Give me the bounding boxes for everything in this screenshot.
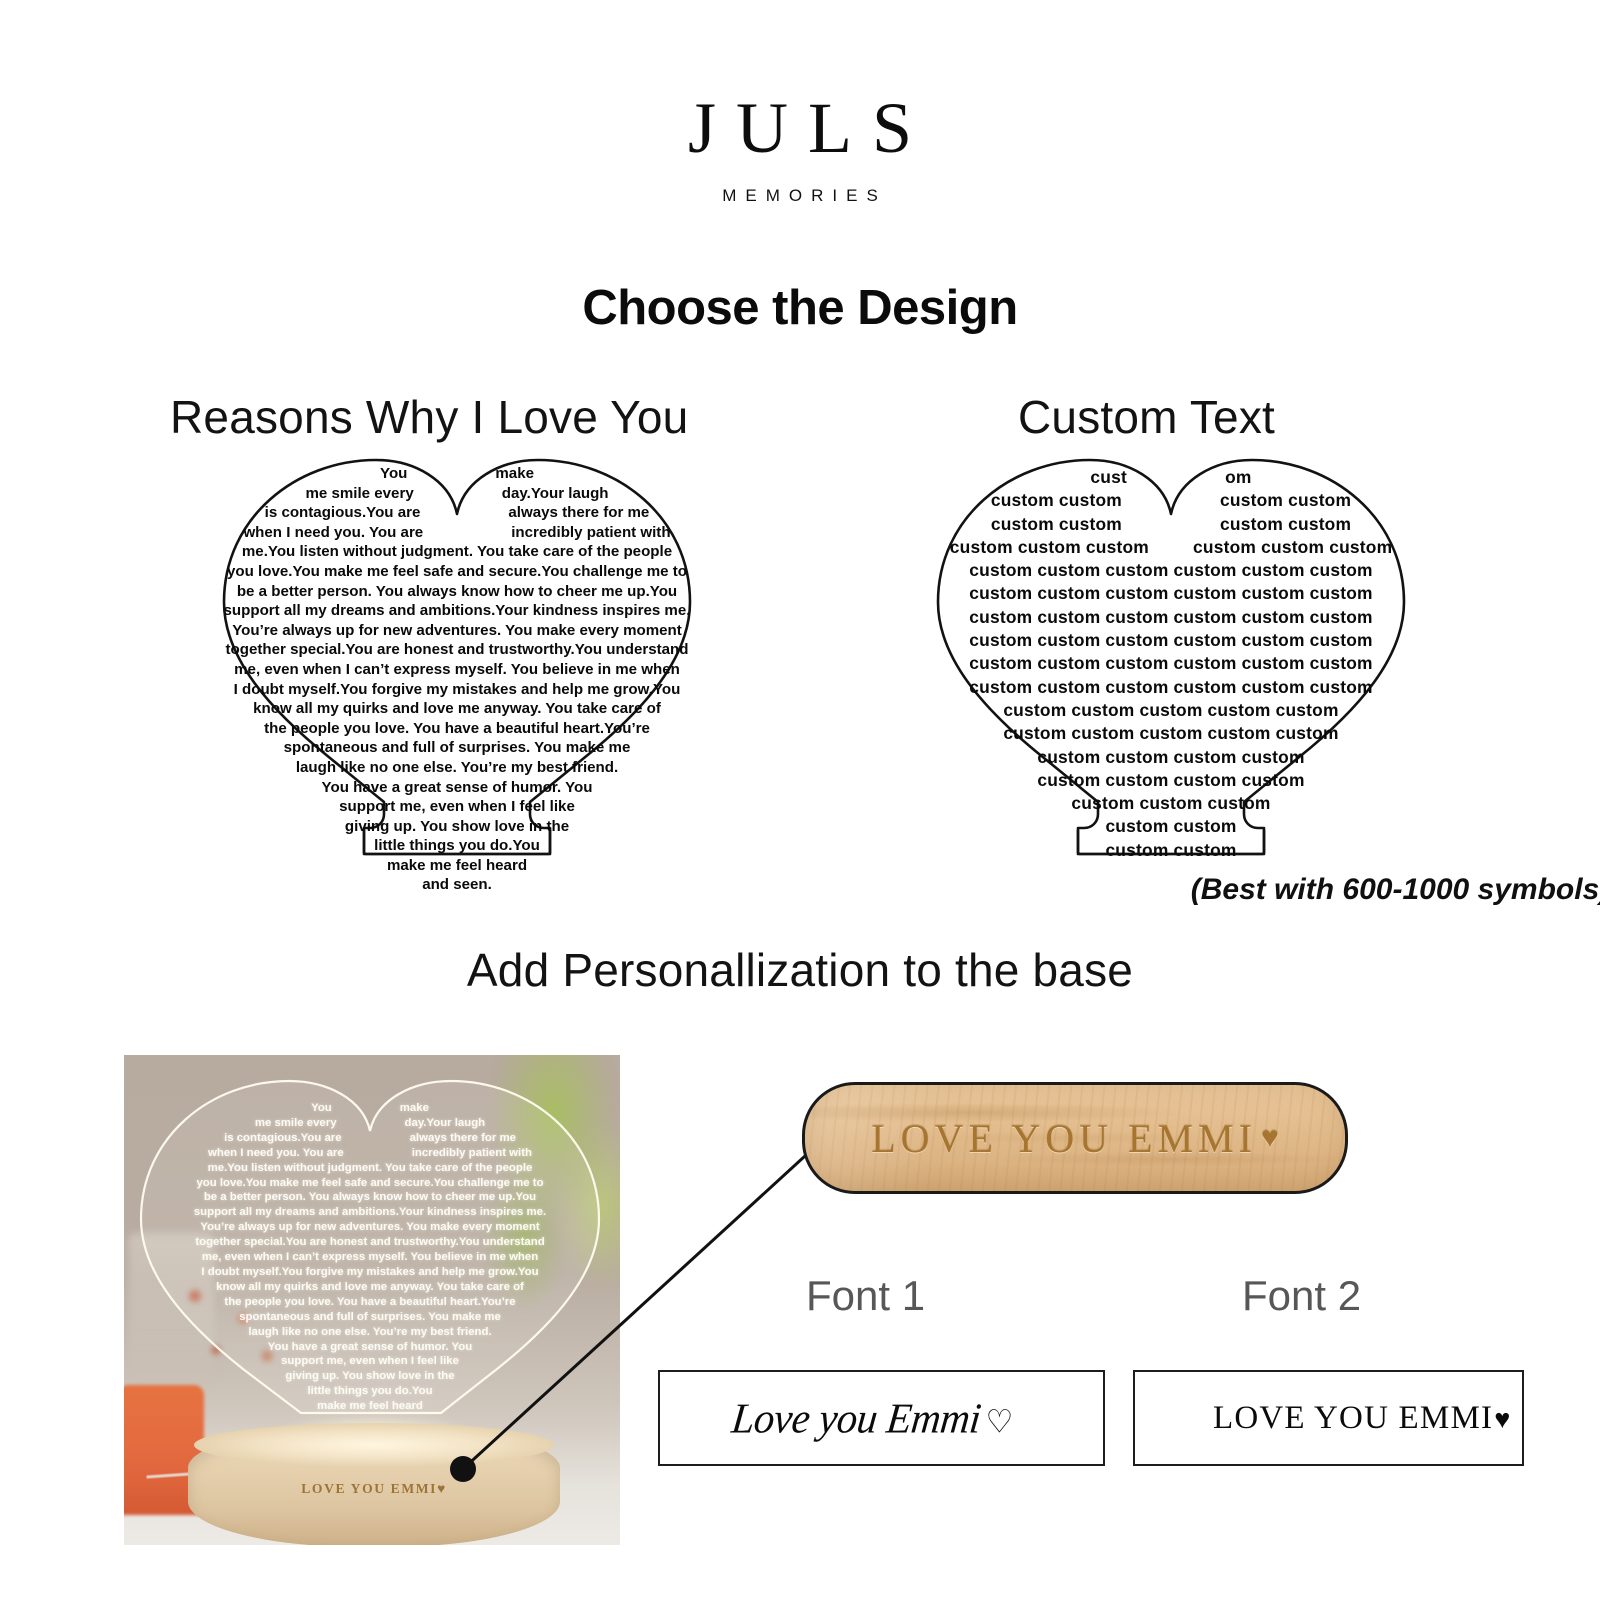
heart-right-top-right: om — [1225, 467, 1252, 487]
photo-heart-body-line: you love.You make me feel safe and secur… — [130, 1176, 610, 1191]
heart-right-top-left: cust — [1090, 467, 1127, 487]
photo-heart-top-right: make — [400, 1101, 429, 1116]
photo-heart-body-line: little things you do.You — [130, 1384, 610, 1399]
heart-right-text: cust om custom custom custom custom cust… — [932, 452, 1410, 862]
photo-lobe-gap — [342, 1131, 410, 1146]
font-option-title-1: Font 1 — [806, 1272, 925, 1320]
acrylic-heart-panel: You make me smile every day.Your laugh i… — [130, 1073, 610, 1443]
photo-heart-body-line: know all my quirks and love me anyway. Y… — [130, 1280, 610, 1295]
heart-right-body-line: custom custom custom custom custom custo… — [932, 606, 1410, 629]
heart-left-body-line: you love.You make me feel safe and secur… — [218, 562, 696, 582]
heart-left-body-line: me.You listen without judgment. You take… — [218, 542, 696, 562]
heart-left-row3-left: when I need you. You are — [243, 523, 423, 543]
heart-right-body-line: custom custom custom — [932, 792, 1410, 815]
heart-left-body-line: know all my quirks and love me anyway. Y… — [218, 699, 696, 719]
heart-left-row3-right: incredibly patient with — [511, 523, 670, 543]
font-option-box-2[interactable]: LOVE YOU EMMI♥ — [1133, 1370, 1524, 1466]
wood-plate-text: LOVE YOU EMMI — [871, 1115, 1257, 1162]
photo-heart-body-line: You’re always up for new adventures. You… — [130, 1220, 610, 1235]
design-preview-custom-text[interactable]: cust om custom custom custom custom cust… — [932, 452, 1410, 862]
heart-left-body-line: You’re always up for new adventures. You… — [218, 621, 696, 641]
heart-lobe-gap — [407, 464, 495, 484]
photo-heart-body-line: spontaneous and full of surprises. You m… — [130, 1310, 610, 1325]
photo-heart-body-line: support all my dreams and ambitions.Your… — [130, 1205, 610, 1220]
heart-right-body-line: custom custom custom custom custom — [932, 699, 1410, 722]
font-option-title-2: Font 2 — [1242, 1272, 1361, 1320]
heart-right-body-line: custom custom custom custom — [932, 769, 1410, 792]
symbols-hint: (Best with 600-1000 symbols) — [680, 873, 1600, 907]
heart-outline-icon: ♡ — [985, 1403, 1012, 1440]
font-sample-text-1: Love you Emmi — [729, 1394, 983, 1442]
heart-right-row3-right: custom custom custom — [1193, 537, 1392, 557]
brand-logo: JULS MEMORIES — [0, 92, 1600, 206]
heart-right-row2-left: custom custom — [991, 514, 1122, 534]
photo-heart-row2-right: always there for me — [410, 1131, 516, 1146]
design-option-label-custom: Custom Text — [1018, 390, 1275, 444]
heart-left-top-right: make — [495, 464, 534, 484]
heart-right-body-line: custom custom — [932, 839, 1410, 862]
heart-right-body-line: custom custom custom custom — [932, 746, 1410, 769]
heart-right-body-line: custom custom custom custom custom custo… — [932, 629, 1410, 652]
heart-right-row3-left: custom custom custom — [950, 537, 1149, 557]
heart-icon: ♥ — [1261, 1121, 1279, 1155]
heart-left-body-line: spontaneous and full of surprises. You m… — [218, 738, 696, 758]
wood-plate-engraving: LOVE YOU EMMI♥ — [805, 1085, 1345, 1191]
heart-left-body-line: little things you do.You — [218, 836, 696, 856]
font-option-box-1[interactable]: Love you Emmi♡ — [658, 1370, 1105, 1466]
photo-heart-body-line: me.You listen without judgment. You take… — [130, 1161, 610, 1176]
heart-left-top-left: You — [380, 464, 407, 484]
heart-left-body-line: together special.You are honest and trus… — [218, 640, 696, 660]
heart-right-body-line: custom custom custom custom custom custo… — [932, 676, 1410, 699]
photo-heart-top-left: You — [311, 1101, 332, 1116]
photo-lobe-gap — [332, 1101, 400, 1116]
heart-left-body-line: support me, even when I feel like — [218, 797, 696, 817]
brand-name: JULS — [0, 92, 1600, 164]
heart-lobe-gap — [423, 523, 511, 543]
heart-left-body-line: me, even when I can’t express myself. Yo… — [218, 660, 696, 680]
photo-lobe-gap — [337, 1116, 405, 1131]
heart-right-row1-right: custom custom — [1220, 490, 1351, 510]
photo-heart-row1-left: me smile every — [255, 1116, 337, 1131]
heart-left-row2-left: is contagious.You are — [265, 503, 421, 523]
section-title-add-personalization: Add Personallization to the base — [0, 943, 1600, 997]
font-sample-script: Love you Emmi♡ — [729, 1393, 1015, 1443]
heart-left-row1-right: day.Your laugh — [502, 484, 609, 504]
heart-left-row2-right: always there for me — [508, 503, 649, 523]
heart-right-row1-left: custom custom — [991, 490, 1122, 510]
heart-left-body-line: the people you love. You have a beautifu… — [218, 719, 696, 739]
photo-heart-body-line: me, even when I can’t express myself. Yo… — [130, 1250, 610, 1265]
photo-heart-body-line: support me, even when I feel like — [130, 1354, 610, 1369]
heart-left-row1-left: me smile every — [305, 484, 413, 504]
photo-heart-row2-left: is contagious.You are — [224, 1131, 342, 1146]
photo-heart-body-line: You have a great sense of humor. You — [130, 1340, 610, 1355]
heart-left-body-line: be a better person. You always know how … — [218, 582, 696, 602]
section-title-choose-design: Choose the Design — [0, 280, 1600, 336]
heart-lobe-gap — [414, 484, 502, 504]
heart-right-body-line: custom custom custom custom custom — [932, 722, 1410, 745]
heart-left-body-line: I doubt myself.You forgive my mistakes a… — [218, 680, 696, 700]
photo-heart-body-line: laugh like no one else. You’re my best f… — [130, 1325, 610, 1340]
heart-right-row2-right: custom custom — [1220, 514, 1351, 534]
font-sample-text-2: LOVE YOU EMMI — [1213, 1400, 1493, 1436]
photo-heart-body-line: giving up. You show love in the — [130, 1369, 610, 1384]
photo-heart-row1-right: day.Your laugh — [405, 1116, 486, 1131]
heart-left-body-line: laugh like no one else. You’re my best f… — [218, 758, 696, 778]
heart-left-body-line: and seen. — [218, 875, 696, 895]
heart-right-body-line: custom custom — [932, 815, 1410, 838]
heart-left-body-line: make me feel heard — [218, 856, 696, 876]
design-preview-reasons-why[interactable]: You make me smile every day.Your laugh i… — [218, 452, 696, 862]
heart-lobe-gap — [420, 503, 508, 523]
symbols-hint-wrap: (Best with 600-1000 symbols) — [680, 873, 1600, 907]
photo-heart-body-line: together special.You are honest and trus… — [130, 1235, 610, 1250]
heart-icon: ♥ — [1494, 1404, 1511, 1434]
heart-right-body-line: custom custom custom custom custom custo… — [932, 652, 1410, 675]
brand-tagline: MEMORIES — [0, 186, 1600, 206]
photo-heart-body-line: I doubt myself.You forgive my mistakes a… — [130, 1265, 610, 1280]
heart-left-body-line: support all my dreams and ambitions.Your… — [218, 601, 696, 621]
wood-plate-preview[interactable]: LOVE YOU EMMI♥ — [802, 1082, 1348, 1194]
photo-heart-row3-left: when I need you. You are — [208, 1146, 344, 1161]
design-option-label-reasons: Reasons Why I Love You — [170, 390, 688, 444]
base-engraving-text: LOVE YOU EMMI♥ — [188, 1481, 560, 1497]
photo-heart-body-line: the people you love. You have a beautifu… — [130, 1295, 610, 1310]
font-sample-serif: LOVE YOU EMMI♥ — [1213, 1400, 1511, 1437]
photo-lobe-gap — [344, 1146, 412, 1161]
wooden-base-top — [194, 1423, 554, 1467]
product-photo: You make me smile every day.Your laugh i… — [124, 1055, 620, 1545]
heart-left-body-line: You have a great sense of humor. You — [218, 778, 696, 798]
acrylic-heart-text: You make me smile every day.Your laugh i… — [130, 1101, 610, 1414]
heart-left-body-line: giving up. You show love in the — [218, 817, 696, 837]
photo-heart-body-line: be a better person. You always know how … — [130, 1190, 610, 1205]
heart-left-text: You make me smile every day.Your laugh i… — [218, 452, 696, 895]
heart-right-body-line: custom custom custom custom custom custo… — [932, 559, 1410, 582]
photo-heart-row3-right: incredibly patient with — [412, 1146, 532, 1161]
heart-right-body-line: custom custom custom custom custom custo… — [932, 582, 1410, 605]
